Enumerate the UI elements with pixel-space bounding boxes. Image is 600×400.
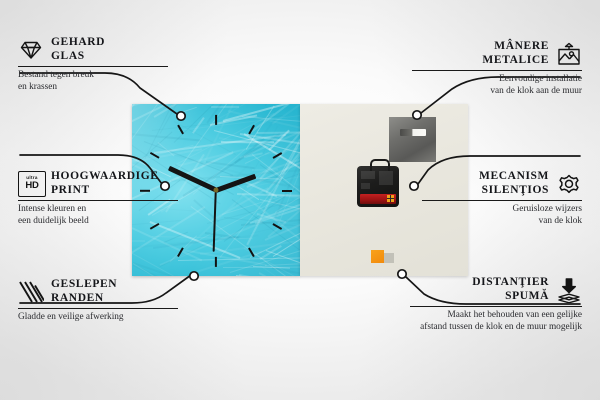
feature-divider [412, 70, 582, 71]
feature-title-2: SPUMĂ [472, 290, 549, 304]
feature-description: Bestand tegen breuk en krassen [18, 70, 178, 93]
feature-title-2: METALICE [482, 54, 549, 68]
spacer-arrow-icon [556, 277, 582, 303]
feature-manere-metalice: MÂNERE METALICE Eenvoudige installatie v… [412, 40, 582, 97]
picture-frame-icon [556, 41, 582, 67]
feature-hoogwaardige-print: ultra HD HOOGWAARDIGE PRINT Intense kleu… [18, 170, 188, 227]
feature-geslepen-randen: GESLEPEN RANDEN Gladde en veilige afwerk… [18, 278, 188, 324]
movement-hang-loop [370, 159, 390, 171]
feature-desc-line-1: Bestand tegen breuk [18, 70, 178, 82]
metal-hanger-plate [389, 117, 436, 162]
ultra-hd-icon-main-text: HD [25, 181, 38, 191]
feature-title-2: GLAS [51, 50, 105, 64]
feature-title: MECANISM [479, 170, 549, 184]
foam-spacer [371, 250, 384, 263]
feature-desc-line-1: Maakt het behouden van een gelijke [386, 310, 582, 322]
feature-gehard-glas: GEHARD GLAS Bestand tegen breuk en krass… [18, 36, 178, 93]
movement-detail [361, 171, 375, 179]
feature-description: Geruisloze wijzers van de klok [422, 204, 582, 227]
feature-title: HOOGWAARDIGE [51, 170, 159, 184]
feature-description: Intense kleuren en een duidelijk beeld [18, 204, 188, 227]
feature-title-2: PRINT [51, 184, 159, 198]
feature-title: GEHARD [51, 36, 105, 50]
feature-divider [422, 200, 582, 201]
feature-desc-line-2: een duidelijk beeld [18, 216, 188, 228]
feature-desc-line-1: Gladde en veilige afwerking [18, 312, 188, 324]
feature-desc-line-2: van de klok [422, 216, 582, 228]
hanger-slot [400, 129, 426, 136]
feature-description: Eenvoudige installatie van de klok aan d… [412, 74, 582, 97]
clock-center-hub [214, 188, 219, 193]
ultra-hd-icon: ultra HD [18, 171, 44, 197]
feature-divider [18, 200, 178, 201]
feature-desc-line-2: en krassen [18, 82, 178, 94]
clock-tick [282, 190, 292, 192]
feature-description: Maakt het behouden van een gelijke afsta… [386, 310, 582, 333]
feature-desc-line-2: afstand tussen de klok en de muur mogeli… [386, 322, 582, 334]
feature-title-2: SILENŢIOS [479, 184, 549, 198]
feature-divider [410, 306, 582, 307]
beveled-edges-icon [18, 279, 44, 305]
clock-tick [215, 257, 217, 267]
foam-spacer-shadow [384, 253, 394, 263]
movement-detail [379, 171, 393, 185]
feature-divider [18, 66, 168, 67]
feature-divider [18, 308, 178, 309]
battery-plus-terminal [387, 195, 394, 202]
aa-battery [360, 194, 396, 204]
feature-desc-line-1: Eenvoudige installatie [412, 74, 582, 86]
feature-mecanism-silentios: MECANISM SILENŢIOS Geruisloze wijzers va… [422, 170, 582, 227]
feature-title: MÂNERE [482, 40, 549, 54]
feature-description: Gladde en veilige afwerking [18, 312, 188, 324]
diamond-icon [18, 37, 44, 63]
feature-desc-line-1: Geruisloze wijzers [422, 204, 582, 216]
movement-detail [361, 183, 370, 189]
feature-title: DISTANŢIER [472, 276, 549, 290]
clock-tick [215, 115, 217, 125]
feature-desc-line-1: Intense kleuren en [18, 204, 188, 216]
feature-title: GESLEPEN [51, 278, 117, 292]
quartz-movement [357, 166, 399, 207]
gear-icon [556, 171, 582, 197]
feature-distantier-spuma: DISTANŢIER SPUMĂ Maakt het behouden van … [410, 276, 582, 333]
feature-title-2: RANDEN [51, 292, 117, 306]
feature-desc-line-2: van de klok aan de muur [412, 86, 582, 98]
